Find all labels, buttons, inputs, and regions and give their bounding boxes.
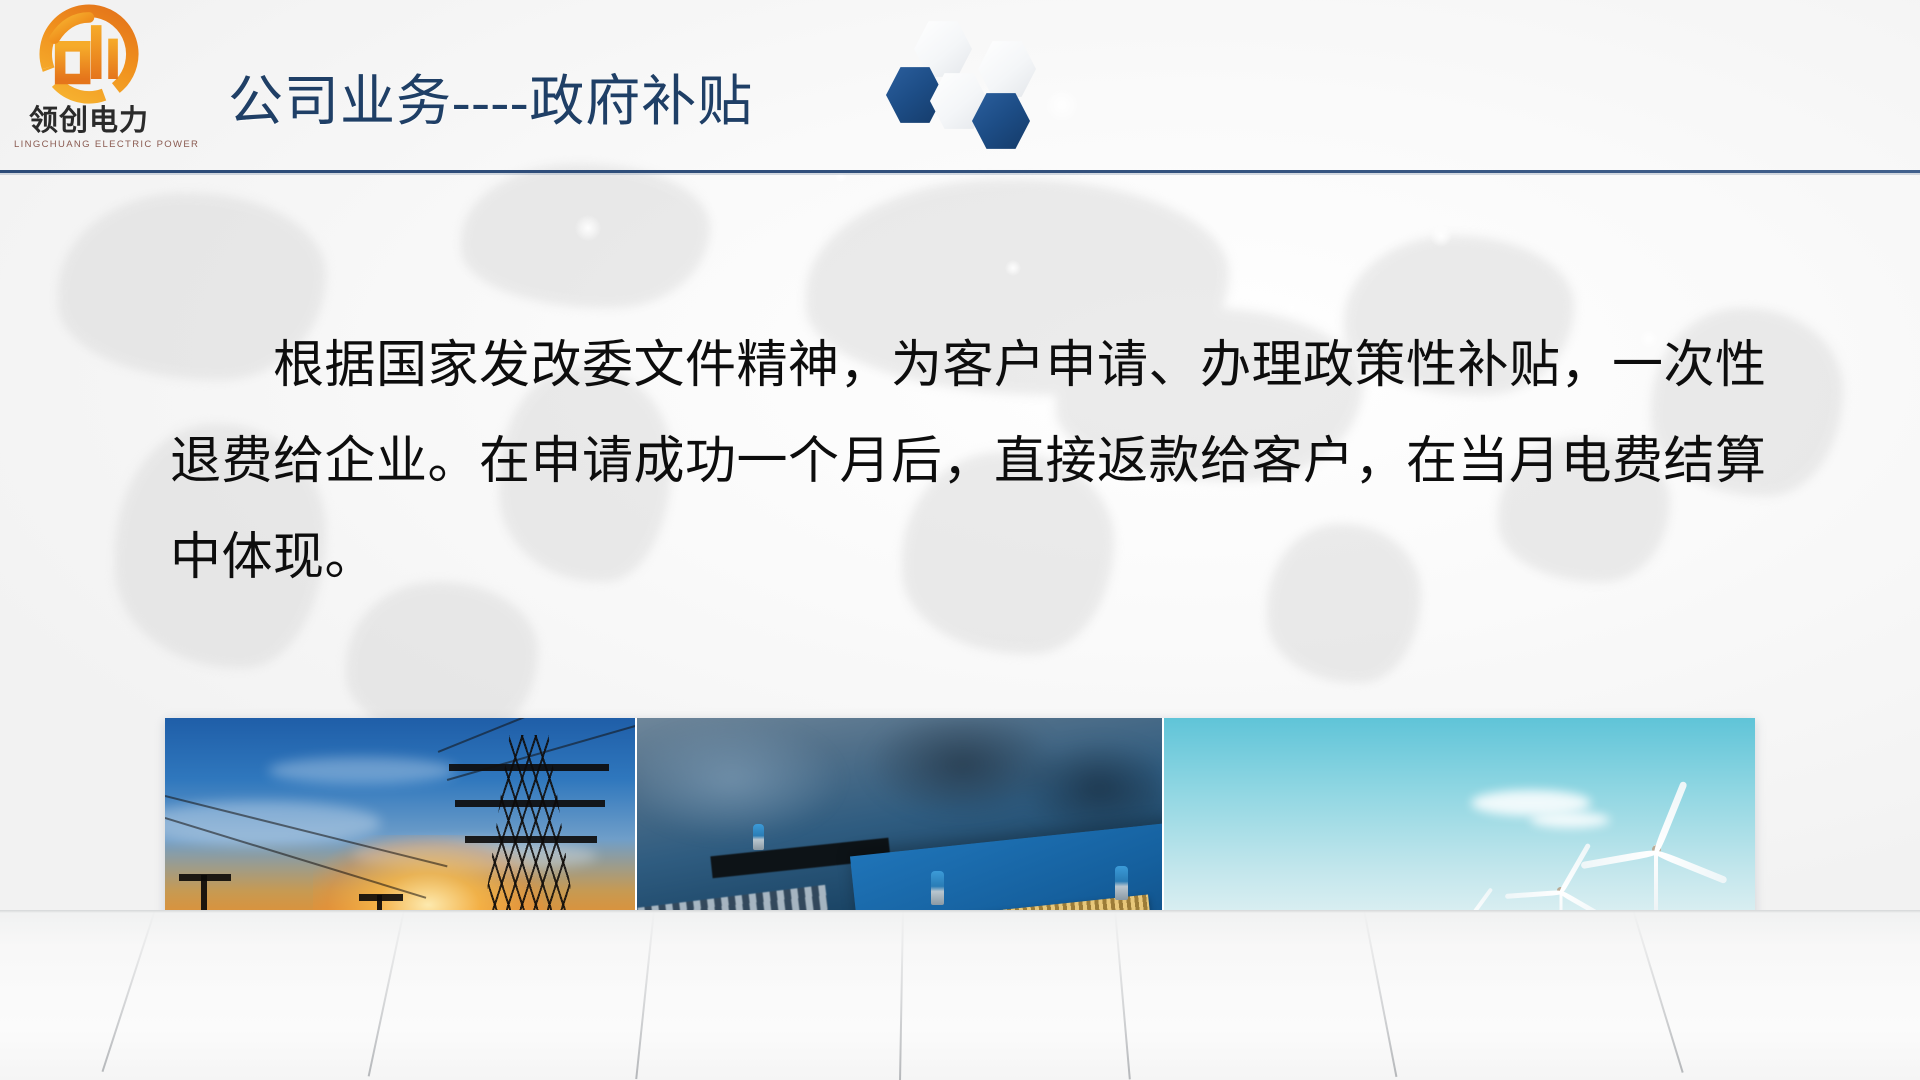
hexagon-decoration: [868, 14, 1058, 159]
logo-company-name-cn: 领创电力: [14, 106, 164, 135]
slide-root: 领创电力 LINGCHUANG ELECTRIC POWER 公司业务----政…: [0, 0, 1920, 1080]
header-divider-shadow: [0, 173, 1920, 175]
hex-white-3: [978, 40, 1036, 98]
lingchuang-circular-mark-icon: [30, 4, 148, 104]
logo-company-name-en: LINGCHUANG ELECTRIC POWER: [14, 139, 164, 150]
perspective-floor: [0, 910, 1920, 1080]
slide-header: 领创电力 LINGCHUANG ELECTRIC POWER 公司业务----政…: [0, 0, 1920, 175]
page-title: 公司业务----政府补贴: [228, 56, 753, 136]
company-logo[interactable]: 领创电力 LINGCHUANG ELECTRIC POWER: [14, 4, 164, 164]
body-paragraph: 根据国家发改委文件精神，为客户申请、办理政策性补贴，一次性退费给企业。在申请成功…: [170, 318, 1810, 606]
